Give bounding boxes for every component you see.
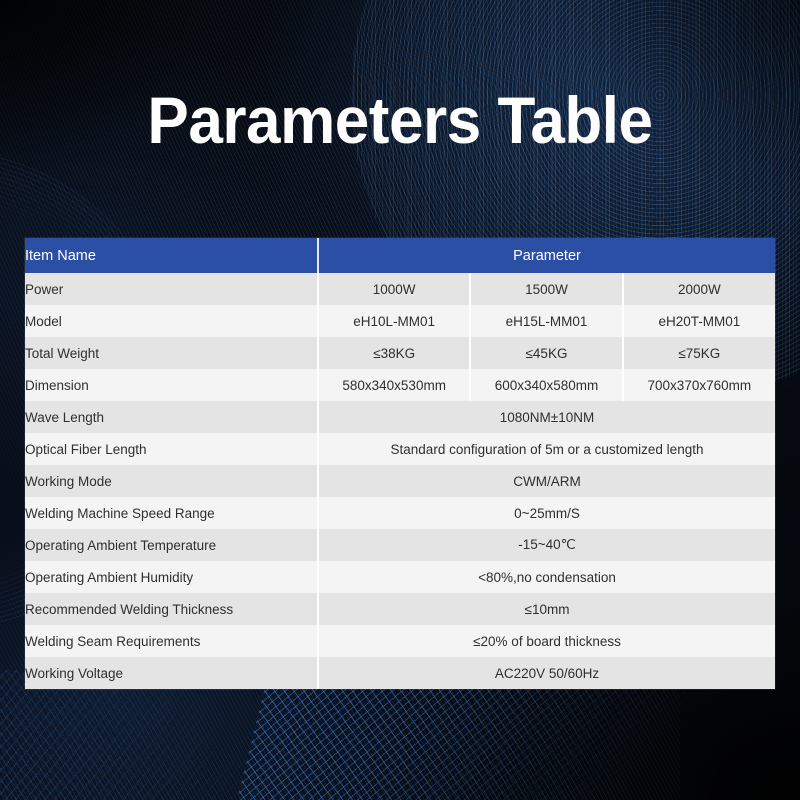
row-label: Optical Fiber Length — [25, 433, 318, 465]
row-value: 580x340x530mm — [318, 369, 470, 401]
row-label: Operating Ambient Temperature — [25, 529, 318, 561]
page-content: Parameters Table Item Name Parameter Pow… — [0, 0, 800, 800]
row-value-merged: ≤20% of board thickness — [318, 625, 775, 657]
row-value: ≤75KG — [623, 337, 775, 369]
table-row: ModeleH10L-MM01eH15L-MM01eH20T-MM01 — [25, 305, 775, 337]
row-label: Model — [25, 305, 318, 337]
table-row: Power1000W1500W2000W — [25, 273, 775, 305]
parameters-table: Item Name Parameter Power1000W1500W2000W… — [25, 238, 775, 689]
row-value: eH20T-MM01 — [623, 305, 775, 337]
row-value: 700x370x760mm — [623, 369, 775, 401]
table-row: Welding Machine Speed Range0~25mm/S — [25, 497, 775, 529]
column-header-item-name: Item Name — [25, 238, 318, 273]
row-value-merged: AC220V 50/60Hz — [318, 657, 775, 689]
row-value-merged: <80%,no condensation — [318, 561, 775, 593]
row-label: Power — [25, 273, 318, 305]
row-label: Dimension — [25, 369, 318, 401]
row-value: ≤38KG — [318, 337, 470, 369]
row-value: 2000W — [623, 273, 775, 305]
row-label: Recommended Welding Thickness — [25, 593, 318, 625]
table-body: Power1000W1500W2000WModeleH10L-MM01eH15L… — [25, 273, 775, 689]
row-value-merged: CWM/ARM — [318, 465, 775, 497]
column-header-parameter: Parameter — [318, 238, 775, 273]
row-label: Working Voltage — [25, 657, 318, 689]
table-header-row: Item Name Parameter — [25, 238, 775, 273]
table-row: Operating Ambient Humidity<80%,no conden… — [25, 561, 775, 593]
row-value-merged: Standard configuration of 5m or a custom… — [318, 433, 775, 465]
table-header: Item Name Parameter — [25, 238, 775, 273]
row-value: ≤45KG — [470, 337, 622, 369]
row-label: Wave Length — [25, 401, 318, 433]
row-value: 600x340x580mm — [470, 369, 622, 401]
row-value-merged: 0~25mm/S — [318, 497, 775, 529]
table-row: Welding Seam Requirements≤20% of board t… — [25, 625, 775, 657]
table-row: Working ModeCWM/ARM — [25, 465, 775, 497]
row-label: Total Weight — [25, 337, 318, 369]
table-row: Wave Length1080NM±10NM — [25, 401, 775, 433]
table-row: Dimension580x340x530mm600x340x580mm700x3… — [25, 369, 775, 401]
row-value-merged: 1080NM±10NM — [318, 401, 775, 433]
table-row: Operating Ambient Temperature-15~40℃ — [25, 529, 775, 561]
row-value: eH15L-MM01 — [470, 305, 622, 337]
table-row: Working VoltageAC220V 50/60Hz — [25, 657, 775, 689]
row-value-merged: ≤10mm — [318, 593, 775, 625]
row-label: Operating Ambient Humidity — [25, 561, 318, 593]
row-label: Welding Seam Requirements — [25, 625, 318, 657]
row-label: Welding Machine Speed Range — [25, 497, 318, 529]
row-value: 1000W — [318, 273, 470, 305]
row-value-merged: -15~40℃ — [318, 529, 775, 561]
row-value: 1500W — [470, 273, 622, 305]
page-title: Parameters Table — [24, 84, 776, 156]
table-row: Recommended Welding Thickness≤10mm — [25, 593, 775, 625]
row-value: eH10L-MM01 — [318, 305, 470, 337]
table-row: Optical Fiber LengthStandard configurati… — [25, 433, 775, 465]
row-label: Working Mode — [25, 465, 318, 497]
table-row: Total Weight≤38KG≤45KG≤75KG — [25, 337, 775, 369]
